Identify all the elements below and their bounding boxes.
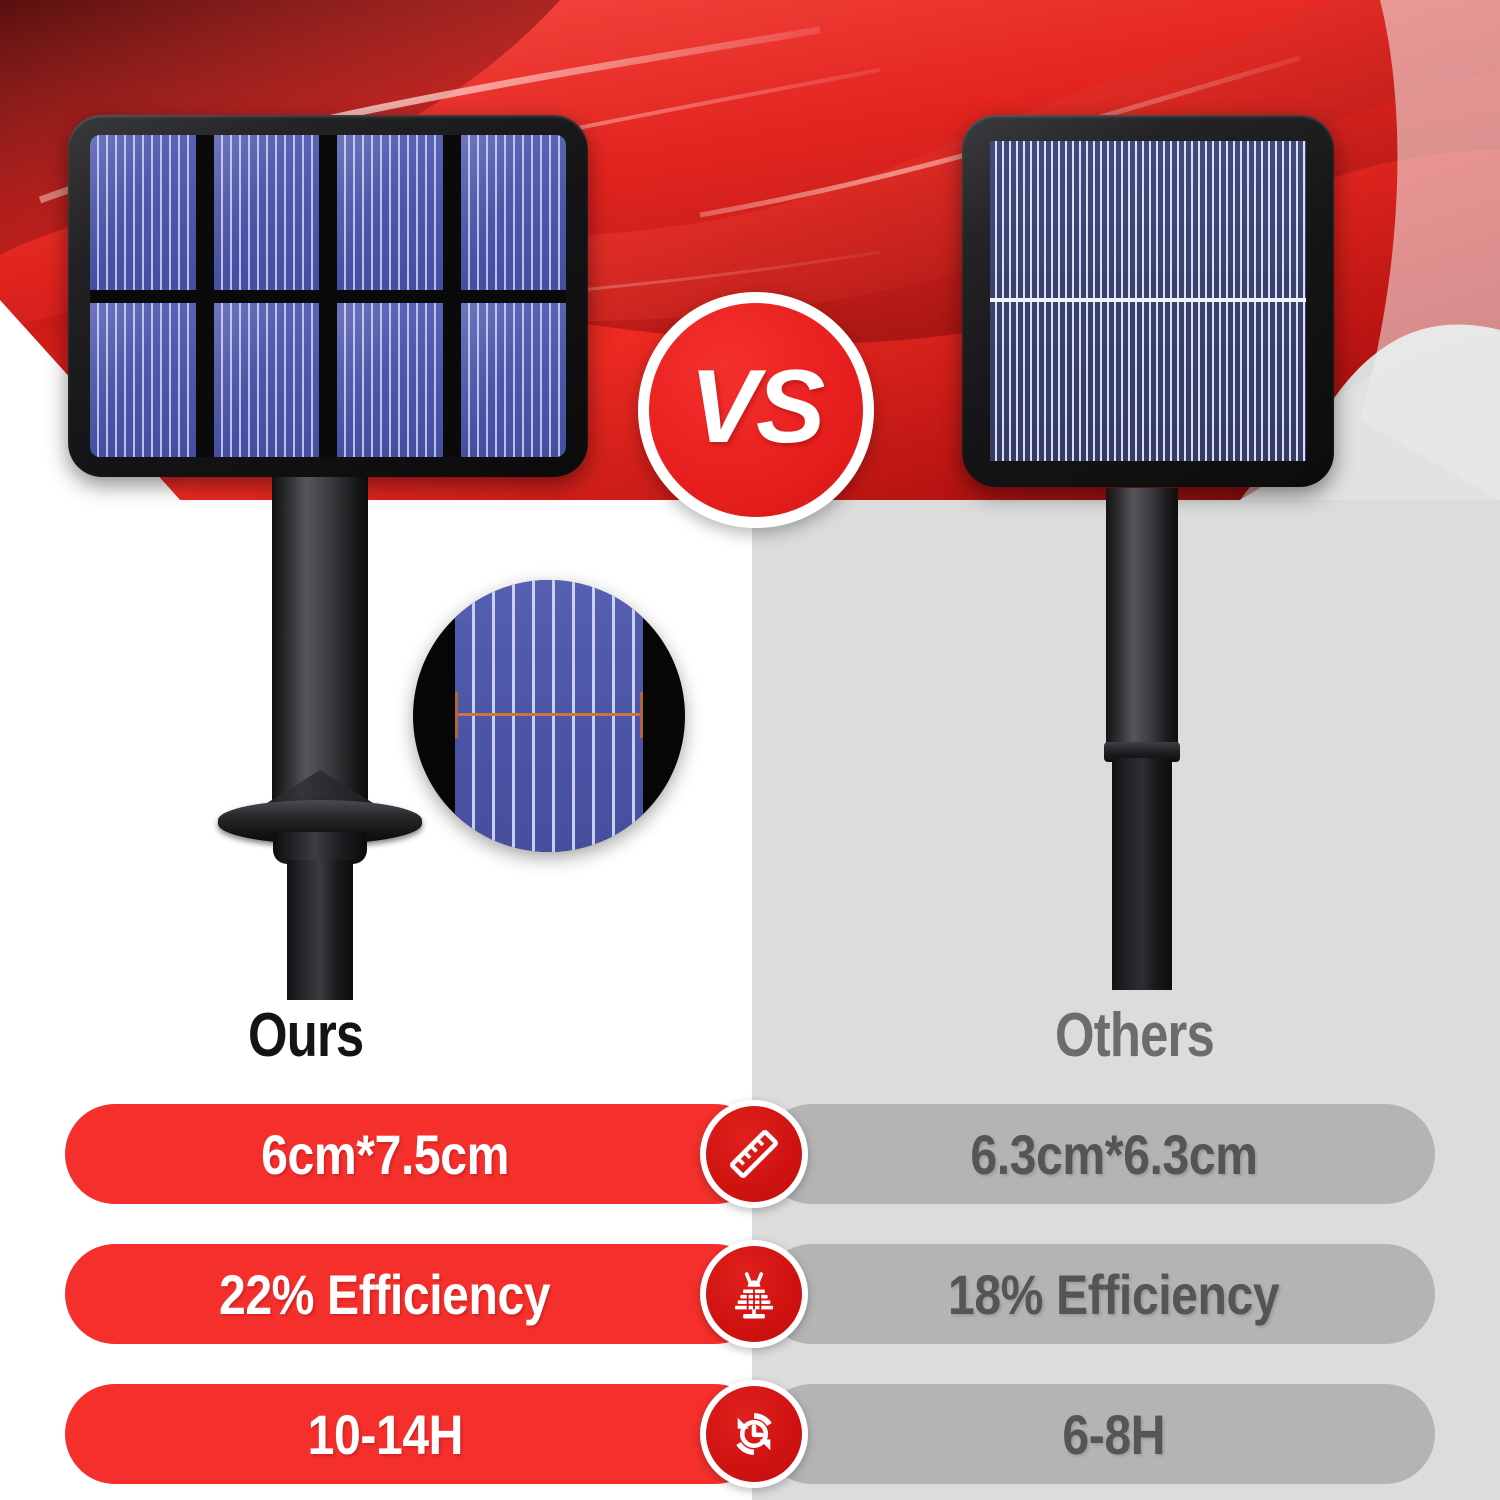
others-value-pill-dimensions: 6.3cm*6.3cm — [762, 1104, 1435, 1204]
others-value-runtime: 6-8H — [1062, 1402, 1165, 1467]
comparison-row-efficiency: 22% Efficiency 18% Efficiency — [0, 1244, 1500, 1344]
others-value-pill-runtime: 6-8H — [762, 1384, 1435, 1484]
solar-cell — [461, 135, 567, 290]
solar-cell — [461, 303, 567, 458]
vs-badge: VS — [638, 292, 874, 528]
ours-value-efficiency: 22% Efficiency — [219, 1262, 550, 1327]
solar-cell — [90, 303, 196, 458]
ruler-icon-glyph — [725, 1125, 783, 1183]
magnified-busbar-cap-right — [640, 692, 643, 738]
others-value-efficiency: 18% Efficiency — [948, 1262, 1279, 1327]
ours-panel-cell-grid — [90, 135, 566, 457]
solar-cell — [337, 135, 443, 290]
cell-detail-magnifier — [413, 580, 685, 852]
others-value-pill-efficiency: 18% Efficiency — [762, 1244, 1435, 1344]
ours-label: Ours — [248, 1000, 363, 1071]
ours-ground-stake — [287, 860, 353, 1000]
comparison-infographic: VS Ours Others 6cm*7.5cm 6.3cm*6.3cm — [0, 0, 1500, 1500]
ours-value-pill-dimensions: 6cm*7.5cm — [65, 1104, 765, 1204]
runtime-clock-icon-glyph — [725, 1405, 783, 1463]
magnified-busbar-cap-left — [455, 692, 458, 738]
solar-cell — [337, 303, 443, 458]
ours-pole-shaft — [272, 477, 368, 807]
solar-cell — [214, 303, 320, 458]
others-solar-panel — [962, 115, 1334, 487]
others-label: Others — [1055, 1000, 1214, 1071]
solar-cell — [214, 135, 320, 290]
others-panel-busbar — [990, 298, 1306, 302]
ours-value-pill-efficiency: 22% Efficiency — [65, 1244, 765, 1344]
comparison-row-dimensions: 6cm*7.5cm 6.3cm*6.3cm — [0, 1104, 1500, 1204]
solar-cell — [90, 135, 196, 290]
ours-value-dimensions: 6cm*7.5cm — [261, 1122, 509, 1187]
runtime-clock-icon — [700, 1380, 808, 1488]
comparison-row-runtime: 10-14H 6-8H — [0, 1384, 1500, 1484]
others-panel-cell — [990, 141, 1306, 461]
others-ground-stake — [1112, 758, 1172, 990]
others-pole-shaft — [1106, 488, 1178, 750]
ours-value-runtime: 10-14H — [307, 1402, 462, 1467]
ours-solar-panel — [68, 115, 588, 477]
solar-panel-icon-glyph — [725, 1265, 783, 1323]
ruler-icon — [700, 1100, 808, 1208]
magnified-busbar — [455, 713, 643, 716]
others-value-dimensions: 6.3cm*6.3cm — [970, 1122, 1257, 1187]
solar-panel-icon — [700, 1240, 808, 1348]
vs-badge-label: VS — [690, 355, 823, 459]
magnified-solar-cell — [455, 580, 643, 852]
ours-value-pill-runtime: 10-14H — [65, 1384, 765, 1484]
comparison-rows: 6cm*7.5cm 6.3cm*6.3cm 22% Efficiency 1 — [0, 1104, 1500, 1500]
